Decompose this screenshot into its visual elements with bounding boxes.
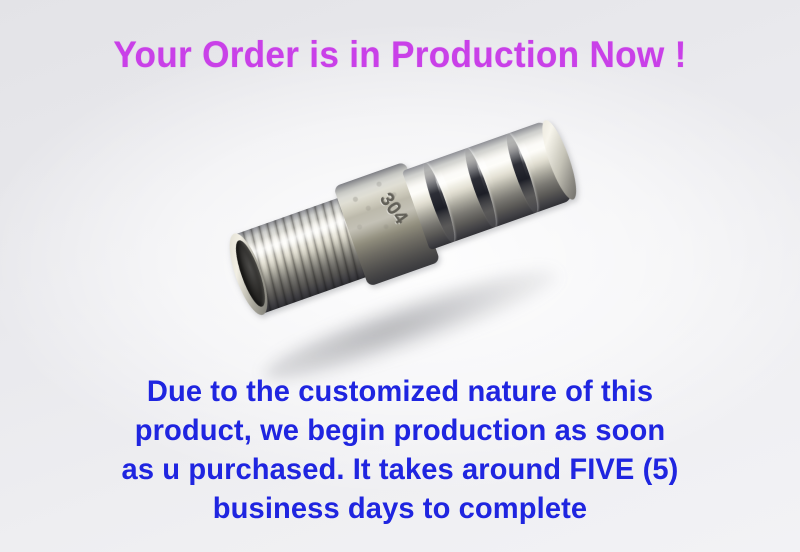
page-title: Your Order is in Production Now !	[20, 36, 780, 75]
message-line: as u purchased. It takes around FIVE (5)	[12, 450, 788, 489]
notice-banner: Your Order is in Production Now ! 304	[0, 0, 800, 552]
message-line: business days to complete	[12, 489, 788, 528]
production-lead-time-message: Due to the customized nature of this pro…	[12, 372, 788, 528]
message-line: Due to the customized nature of this	[12, 372, 788, 411]
product-photo: 304	[238, 152, 586, 360]
message-line: product, we begin production as soon	[12, 411, 788, 450]
